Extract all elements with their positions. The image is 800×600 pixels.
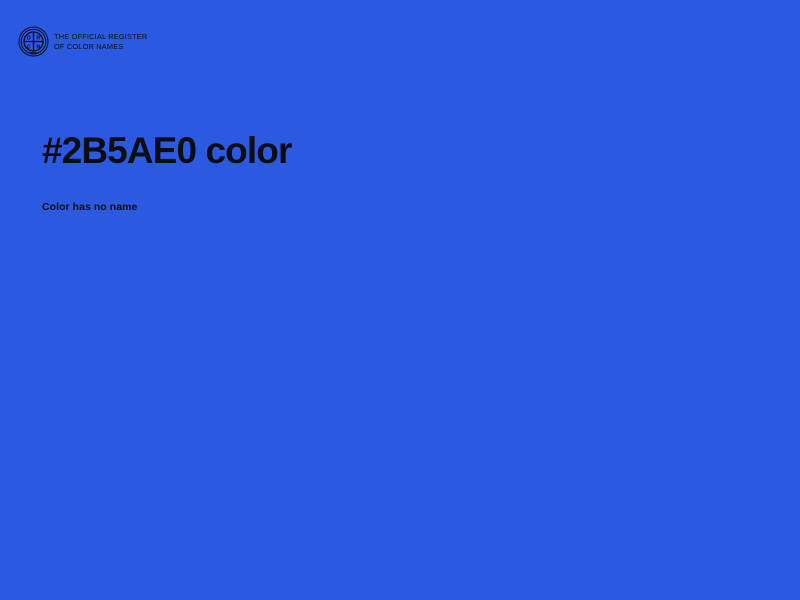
brand-line-1: THE OFFICIAL REGISTER (54, 32, 147, 41)
svg-text:N: N (36, 45, 40, 51)
brand-line-2: OF COLOR NAMES (54, 42, 147, 51)
svg-text:C: C (27, 45, 31, 51)
svg-text:O: O (27, 35, 31, 41)
official-register-seal-icon: O R C N (18, 26, 49, 57)
page-title: #2B5AE0 color (42, 130, 758, 171)
svg-text:R: R (36, 35, 40, 41)
site-header[interactable]: O R C N THE OFFICIAL REGISTER OF COLOR N… (18, 26, 147, 57)
brand-wordmark: THE OFFICIAL REGISTER OF COLOR NAMES (54, 32, 147, 51)
color-name-status: Color has no name (42, 200, 758, 215)
color-detail-panel: #2B5AE0 color Color has no name (42, 130, 758, 215)
